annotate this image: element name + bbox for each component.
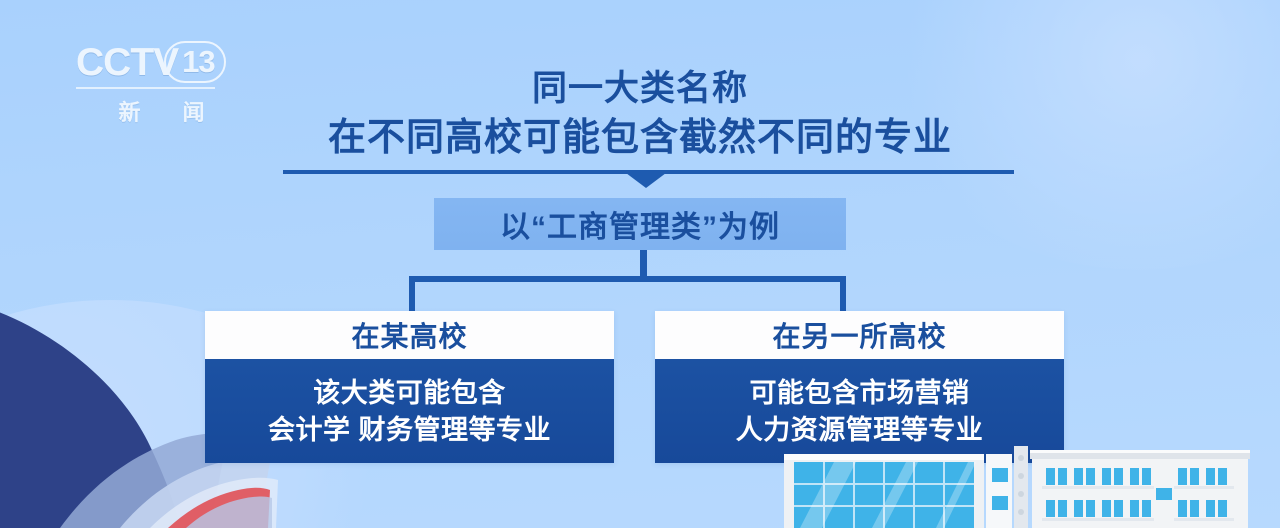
card-right-header-text: 在另一所高校 — [772, 315, 946, 355]
card-left-header: 在某高校 — [205, 311, 614, 359]
headline-line-1: 同一大类名称 — [0, 68, 1280, 111]
glass-tower-building — [784, 454, 1012, 528]
buildings-svg — [760, 436, 1280, 528]
example-subtitle-band: 以“工商管理类”为例 — [434, 198, 846, 250]
card-right-body-line-1: 可能包含市场营销 — [750, 375, 970, 412]
chevron-down-icon — [626, 173, 666, 188]
infographic-slide: CCTV13 新 闻 同一大类名称 在不同高校可能包含截然不同的专业 以“工商管… — [0, 0, 1280, 528]
card-left-header-text: 在某高校 — [351, 315, 467, 355]
campus-buildings-illustration — [760, 436, 1280, 528]
headline-block: 同一大类名称 在不同高校可能包含截然不同的专业 — [0, 68, 1280, 161]
connector-horizontal — [409, 276, 846, 282]
card-right-header: 在另一所高校 — [655, 311, 1064, 359]
headline-line-2: 在不同高校可能包含截然不同的专业 — [0, 115, 1280, 161]
connector-column — [1014, 446, 1028, 528]
university-card-left: 在某高校 该大类可能包含 会计学 财务管理等专业 — [205, 311, 614, 462]
card-left-body-line-2: 会计学 财务管理等专业 — [268, 412, 551, 449]
connector-drop-right — [840, 276, 846, 312]
academic-block-building — [1030, 450, 1250, 528]
card-left-body-line-1: 该大类可能包含 — [313, 375, 506, 412]
connector-drop-left — [409, 276, 415, 312]
connector-stem — [640, 250, 647, 276]
card-left-body: 该大类可能包含 会计学 财务管理等专业 — [205, 359, 614, 463]
example-subtitle-text: 以“工商管理类”为例 — [500, 202, 780, 246]
